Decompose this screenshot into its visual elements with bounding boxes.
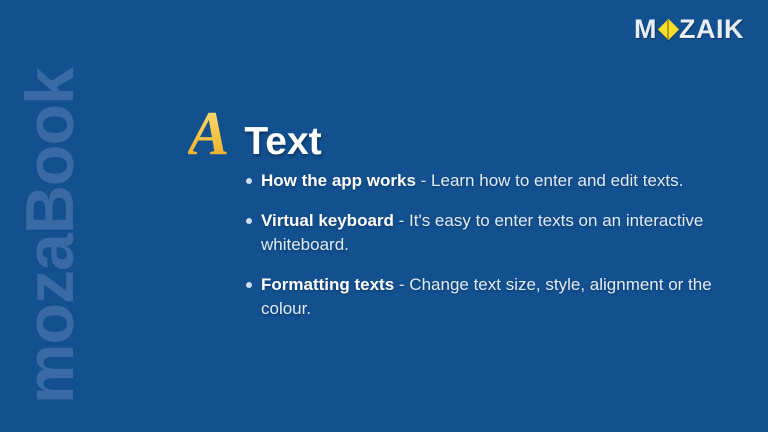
- bullet-dot-icon: [246, 218, 252, 224]
- page-title: A A Text: [188, 103, 322, 165]
- bullet-dot-icon: [246, 282, 252, 288]
- list-item-title: Formatting texts: [261, 275, 394, 294]
- list-item-description: Learn how to enter and edit texts.: [431, 171, 683, 190]
- list-item: How the app works - Learn how to enter a…: [243, 169, 713, 193]
- letter-a-icon: A: [188, 100, 231, 168]
- title-glyph-wrap: A A: [188, 103, 231, 165]
- yellow-diamond-icon: [658, 19, 678, 39]
- list-item-separator: -: [416, 171, 431, 190]
- presentation-slide: M ZAIK mozaBook A A Text How the app wor…: [0, 0, 768, 432]
- list-item-title: Virtual keyboard: [261, 211, 394, 230]
- mozaik-logo: M ZAIK: [634, 14, 744, 44]
- logo-text-zaik: ZAIK: [679, 16, 744, 43]
- list-item: Formatting texts - Change text size, sty…: [243, 273, 713, 321]
- bullet-dot-icon: [246, 178, 252, 184]
- watermark-label: mozaBook: [16, 68, 84, 432]
- page-title-label: Text: [244, 122, 321, 162]
- diamond-center-line: [667, 20, 669, 39]
- list-item: Virtual keyboard - It's easy to enter te…: [243, 209, 713, 257]
- list-item-title: How the app works: [261, 171, 416, 190]
- mozabook-watermark: mozaBook: [0, 0, 100, 432]
- feature-list: How the app works - Learn how to enter a…: [243, 169, 713, 321]
- logo-text-m: M: [634, 16, 657, 43]
- list-item-separator: -: [394, 211, 409, 230]
- list-item-separator: -: [394, 275, 409, 294]
